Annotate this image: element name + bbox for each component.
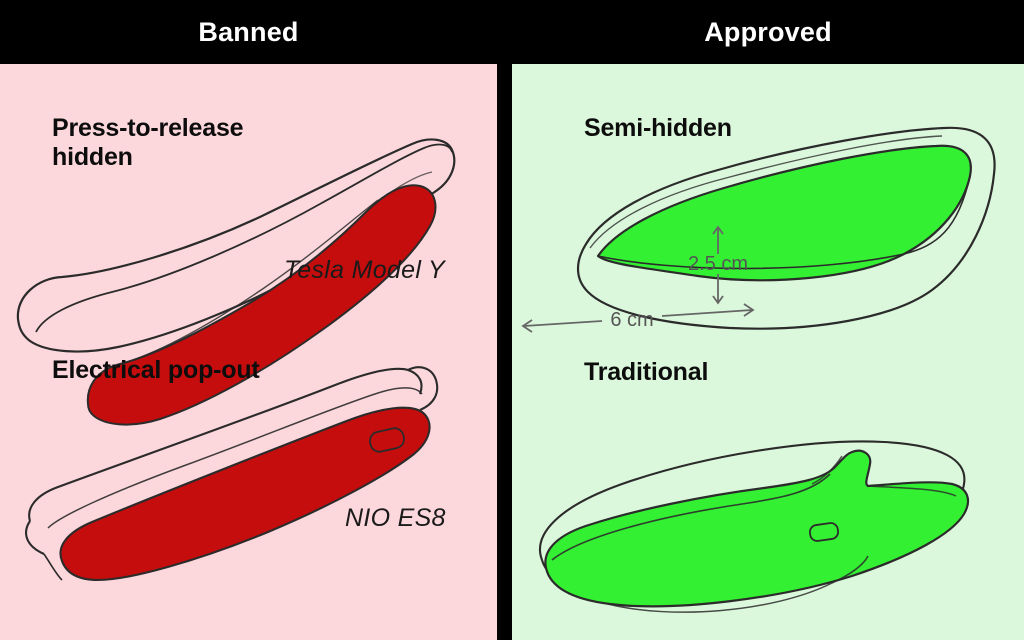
banned-item-label-electrical-pop-out: Electrical pop-out <box>52 356 260 385</box>
header-title-approved: Approved <box>512 0 1024 64</box>
banned-item-brand-tesla: Tesla Model Y <box>284 256 445 285</box>
banned-panel: Press-to-release hidden Tesla Model Y El… <box>0 64 497 640</box>
infographic-stage: Banned Approved <box>0 0 1024 640</box>
panel-divider <box>497 64 512 640</box>
approved-item-label-traditional: Traditional <box>584 358 708 387</box>
approved-item-label-semi-hidden: Semi-hidden <box>584 114 732 143</box>
lock-detail <box>809 522 839 542</box>
header-title-banned: Banned <box>0 0 497 64</box>
approved-panel: 2.5 cm 6 cm Semi-hi <box>512 64 1024 640</box>
banned-item-label-press-to-release: Press-to-release hidden <box>52 114 243 171</box>
traditional-door-handle-icon <box>512 64 1024 640</box>
banned-item-brand-nio: NIO ES8 <box>345 504 446 533</box>
header-bar: Banned Approved <box>0 0 1024 64</box>
